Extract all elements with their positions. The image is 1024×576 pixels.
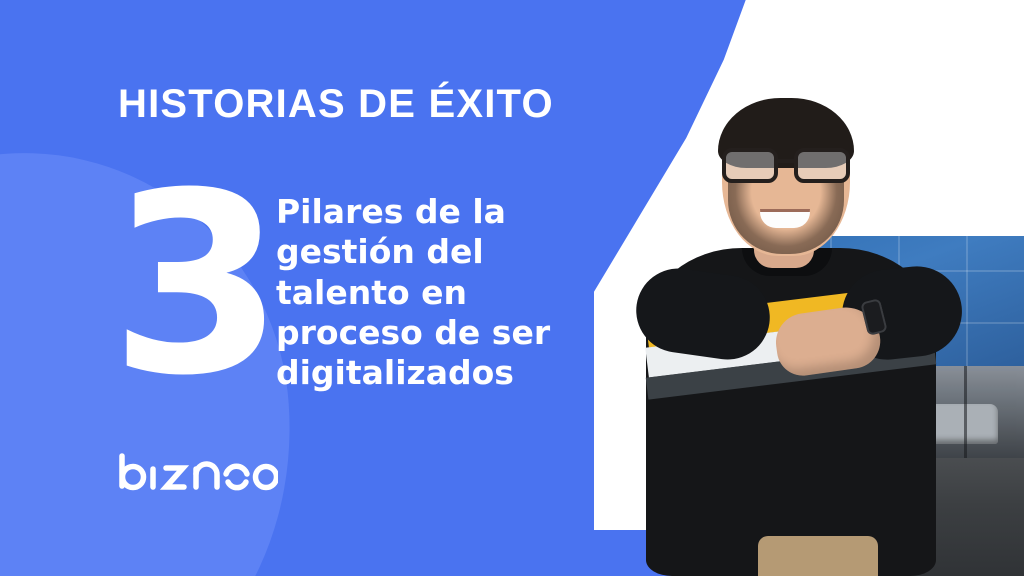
subject-trousers (758, 536, 878, 576)
slide-kicker: HISTORIAS DE ÉXITO (118, 82, 554, 127)
photo-panel: CHEV (594, 0, 1024, 576)
bizneo-wordmark-icon (118, 452, 278, 498)
success-story-slide: CHEV (0, 0, 1024, 576)
eyeglasses-icon (720, 148, 852, 184)
slide-headline: Pilares de la gestión del talento en pro… (276, 192, 566, 393)
subject-photo (638, 96, 968, 576)
slide-number: 3 (110, 160, 284, 410)
bizneo-logo[interactable] (118, 452, 278, 498)
